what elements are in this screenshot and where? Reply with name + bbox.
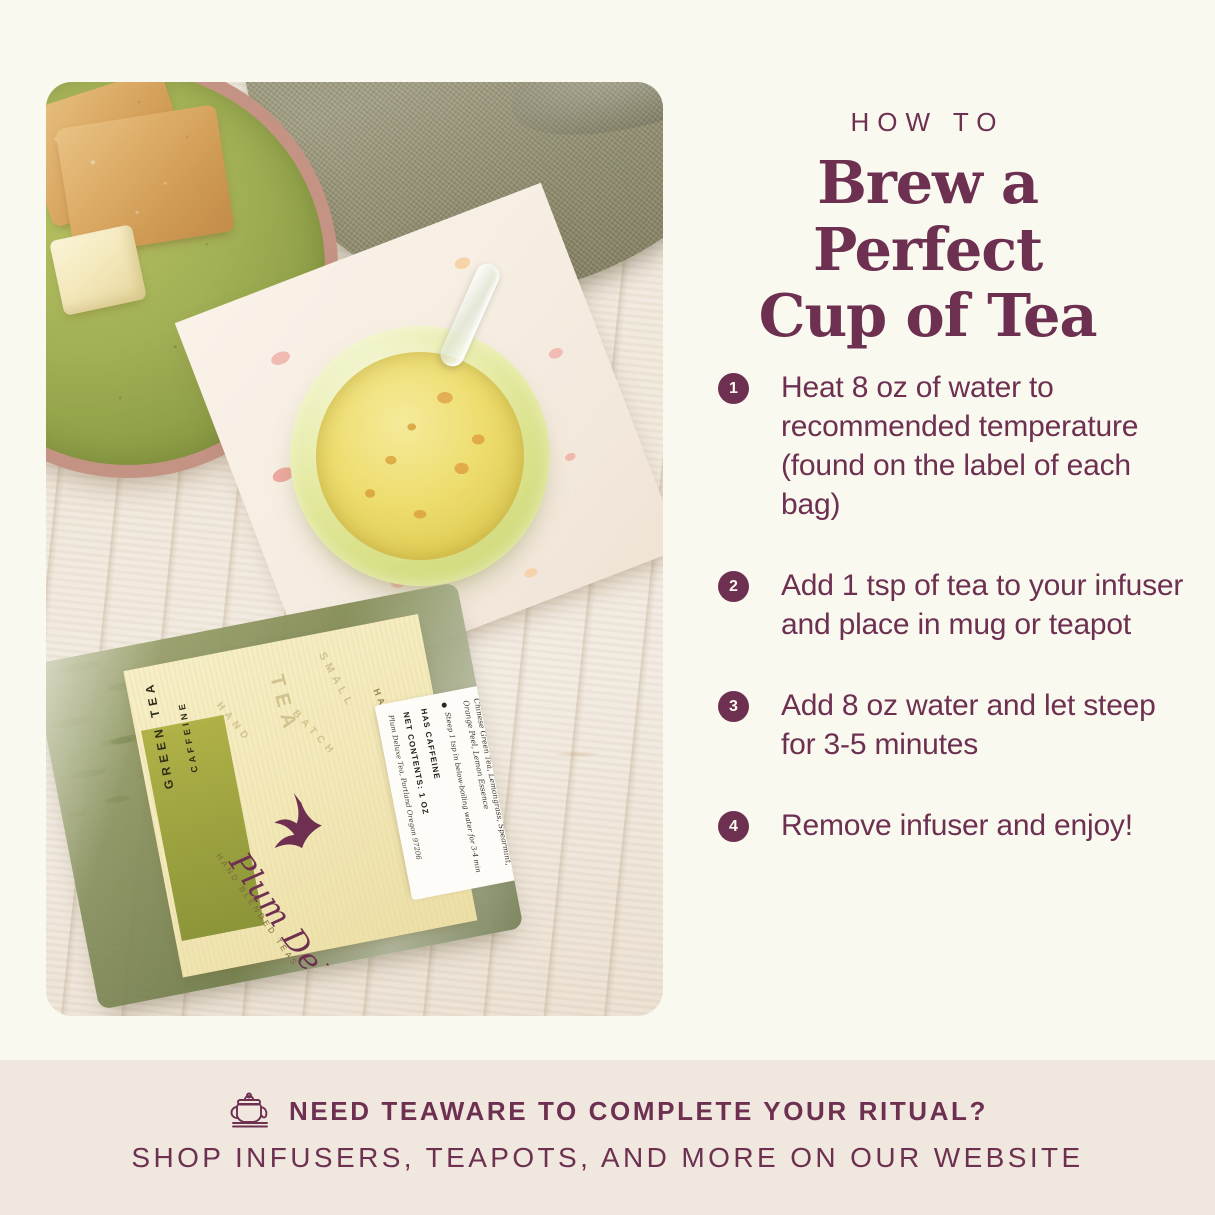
tea-leaf-bits bbox=[316, 352, 524, 560]
photo-stage: GREEN TEA CAFFEINE TEA HAND SMALL BATCH … bbox=[46, 82, 663, 1016]
step-text: Add 1 tsp of tea to your infuser and pla… bbox=[781, 566, 1188, 644]
footer-primary-text: NEED TEAWARE TO COMPLETE YOUR RITUAL? bbox=[289, 1096, 988, 1127]
steps-list: 1 Heat 8 oz of water to recommended temp… bbox=[718, 368, 1188, 845]
step-number-badge: 2 bbox=[718, 571, 749, 602]
footer-secondary-text: SHOP INFUSERS, TEAPOTS, AND MORE ON OUR … bbox=[0, 1142, 1215, 1174]
hero-photo: GREEN TEA CAFFEINE TEA HAND SMALL BATCH … bbox=[46, 82, 663, 1016]
plum-deluxe-bird-icon bbox=[255, 780, 345, 863]
cracker bbox=[55, 104, 235, 256]
label-ghost-small: SMALL bbox=[316, 650, 357, 711]
poster-canvas: GREEN TEA CAFFEINE TEA HAND SMALL BATCH … bbox=[0, 0, 1215, 1215]
package-front-label: GREEN TEA CAFFEINE TEA HAND SMALL BATCH … bbox=[123, 614, 477, 978]
glass-teacup bbox=[290, 326, 550, 586]
label-ghost-tea: TEA bbox=[264, 672, 302, 737]
step-number-badge: 4 bbox=[718, 811, 749, 842]
step-text: Remove infuser and enjoy! bbox=[781, 806, 1133, 845]
list-item: 3 Add 8 oz water and let steep for 3-5 m… bbox=[718, 686, 1188, 764]
kicker-label: HOW TO bbox=[700, 107, 1155, 138]
list-item: 4 Remove infuser and enjoy! bbox=[718, 806, 1188, 845]
footer-headline-row: NEED TEAWARE TO COMPLETE YOUR RITUAL? bbox=[0, 1090, 1215, 1132]
teapot-icon bbox=[227, 1090, 273, 1132]
napkin-fold bbox=[496, 82, 663, 164]
instructions-panel: HOW TO Brew a Perfect Cup of Tea 1 Heat … bbox=[700, 0, 1215, 1060]
step-number-badge: 1 bbox=[718, 373, 749, 404]
footer-banner: NEED TEAWARE TO COMPLETE YOUR RITUAL? SH… bbox=[0, 1060, 1215, 1215]
title-line-2: Cup of Tea bbox=[700, 283, 1155, 350]
list-item: 2 Add 1 tsp of tea to your infuser and p… bbox=[718, 566, 1188, 644]
step-number-badge: 3 bbox=[718, 691, 749, 722]
label-ghost-batch: BATCH bbox=[290, 708, 338, 759]
step-text: Add 8 oz water and let steep for 3-5 min… bbox=[781, 686, 1188, 764]
step-text: Heat 8 oz of water to recommended temper… bbox=[781, 368, 1188, 524]
page-title: Brew a Perfect Cup of Tea bbox=[700, 150, 1155, 350]
list-item: 1 Heat 8 oz of water to recommended temp… bbox=[718, 368, 1188, 524]
title-line-1: Brew a Perfect bbox=[700, 150, 1155, 283]
caffeine-note: HAS CAFFEINE bbox=[419, 708, 442, 781]
